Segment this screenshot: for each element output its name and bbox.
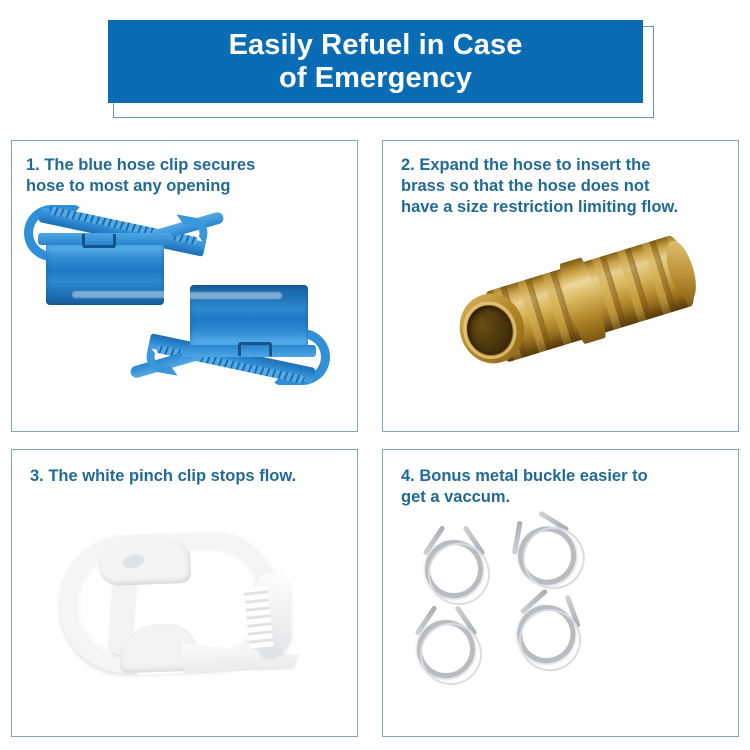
- spring-clamp: [499, 501, 594, 596]
- panel-1-caption: 1. The blue hose clip secures hose to mo…: [12, 141, 357, 197]
- spring-clamp-ring: [417, 620, 475, 678]
- clip-body-highlight: [174, 292, 282, 299]
- spring-clamp: [507, 585, 594, 672]
- brass-hose-mender-photo: [383, 218, 738, 432]
- infographic-root: Easily Refuel in Case of Emergency 1. Th…: [0, 0, 750, 750]
- panel-step-1: 1. The blue hose clip secures hose to mo…: [11, 140, 358, 432]
- header-banner: Easily Refuel in Case of Emergency: [108, 20, 654, 118]
- metal-spring-clamps-photo: [383, 508, 738, 723]
- header-blue-block: Easily Refuel in Case of Emergency: [108, 20, 643, 103]
- panel-3-caption: 3. The white pinch clip stops flow.: [12, 450, 357, 487]
- panel-4-caption: 4. Bonus metal buckle easier to get a va…: [383, 450, 738, 508]
- clip-body-latch-notch: [82, 234, 116, 248]
- panel-step-2: 2. Expand the hose to insert the brass s…: [382, 140, 739, 432]
- spring-clamp: [421, 526, 493, 598]
- white-pinch-clip-photo: [12, 487, 357, 702]
- panel-2-caption: 2. Expand the hose to insert the brass s…: [383, 141, 738, 218]
- spring-clamp: [413, 606, 485, 678]
- clip-body-latch-notch: [238, 342, 272, 356]
- pinch-clip-upper-jaw: [98, 541, 191, 586]
- spring-clamp-ring: [425, 540, 483, 598]
- panel-step-3: 3. The white pinch clip stops flow.: [11, 449, 358, 737]
- brass-fitting: [451, 233, 702, 379]
- panel-step-4: 4. Bonus metal buckle easier to get a va…: [382, 449, 739, 737]
- page-title: Easily Refuel in Case of Emergency: [229, 29, 523, 94]
- blue-hose-clip-photo: [12, 197, 357, 412]
- white-pinch-clip: [57, 523, 316, 682]
- blue-clip-lower: [130, 279, 330, 387]
